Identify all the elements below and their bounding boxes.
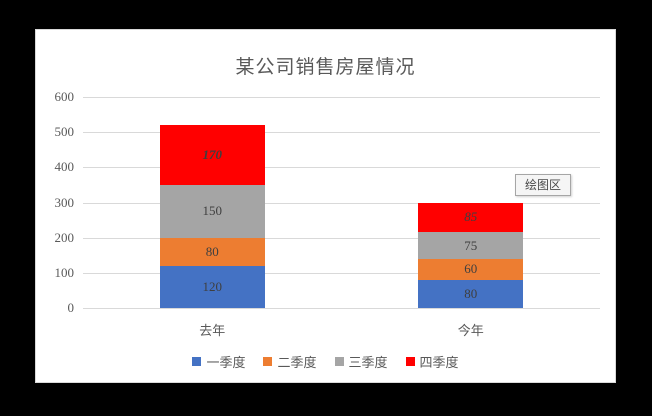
x-axis-category-label: 去年 xyxy=(160,320,265,339)
y-axis-tick-label: 600 xyxy=(55,89,75,105)
data-label: 85 xyxy=(418,209,523,225)
legend-label: 三季度 xyxy=(349,352,388,371)
legend-label: 二季度 xyxy=(277,352,316,371)
plot-area[interactable]: 010020030040050060012080150170去年80607585… xyxy=(83,97,600,308)
bar-segment-一季度[interactable]: 120 xyxy=(160,266,265,308)
data-label: 80 xyxy=(418,286,523,302)
legend-swatch-icon xyxy=(335,357,344,366)
bar-segment-二季度[interactable]: 80 xyxy=(160,238,265,266)
data-label: 80 xyxy=(160,244,265,260)
chart-legend[interactable]: 一季度二季度三季度四季度 xyxy=(36,352,615,371)
bar-segment-三季度[interactable]: 150 xyxy=(160,185,265,238)
data-label: 150 xyxy=(160,203,265,219)
data-label: 170 xyxy=(160,147,265,163)
y-axis-tick-label: 0 xyxy=(68,300,75,316)
plot-area-tooltip: 绘图区 xyxy=(515,174,571,196)
legend-item-四季度[interactable]: 四季度 xyxy=(406,352,459,371)
gridline-600 xyxy=(83,97,600,98)
y-axis-tick-label: 400 xyxy=(55,159,75,175)
legend-swatch-icon xyxy=(406,357,415,366)
y-axis-tick-label: 500 xyxy=(55,124,75,140)
bar-segment-一季度[interactable]: 80 xyxy=(418,280,523,308)
gridline-0 xyxy=(83,308,600,309)
y-axis-tick-label: 200 xyxy=(55,230,75,246)
data-label: 75 xyxy=(418,238,523,254)
legend-label: 四季度 xyxy=(420,352,459,371)
legend-swatch-icon xyxy=(192,357,201,366)
bar-segment-二季度[interactable]: 60 xyxy=(418,259,523,280)
legend-label: 一季度 xyxy=(206,352,245,371)
data-label: 120 xyxy=(160,279,265,295)
y-axis-tick-label: 100 xyxy=(55,265,75,281)
legend-item-二季度[interactable]: 二季度 xyxy=(263,352,316,371)
legend-item-一季度[interactable]: 一季度 xyxy=(192,352,245,371)
chart-title[interactable]: 某公司销售房屋情况 xyxy=(36,52,615,79)
bar-segment-三季度[interactable]: 75 xyxy=(418,232,523,258)
bar-segment-四季度[interactable]: 85 xyxy=(418,203,523,233)
legend-item-三季度[interactable]: 三季度 xyxy=(335,352,388,371)
chart-card[interactable]: 某公司销售房屋情况 010020030040050060012080150170… xyxy=(35,29,616,383)
y-axis-tick-label: 300 xyxy=(55,195,75,211)
x-axis-category-label: 今年 xyxy=(418,320,523,339)
data-label: 60 xyxy=(418,261,523,277)
legend-swatch-icon xyxy=(263,357,272,366)
bar-segment-四季度[interactable]: 170 xyxy=(160,125,265,185)
